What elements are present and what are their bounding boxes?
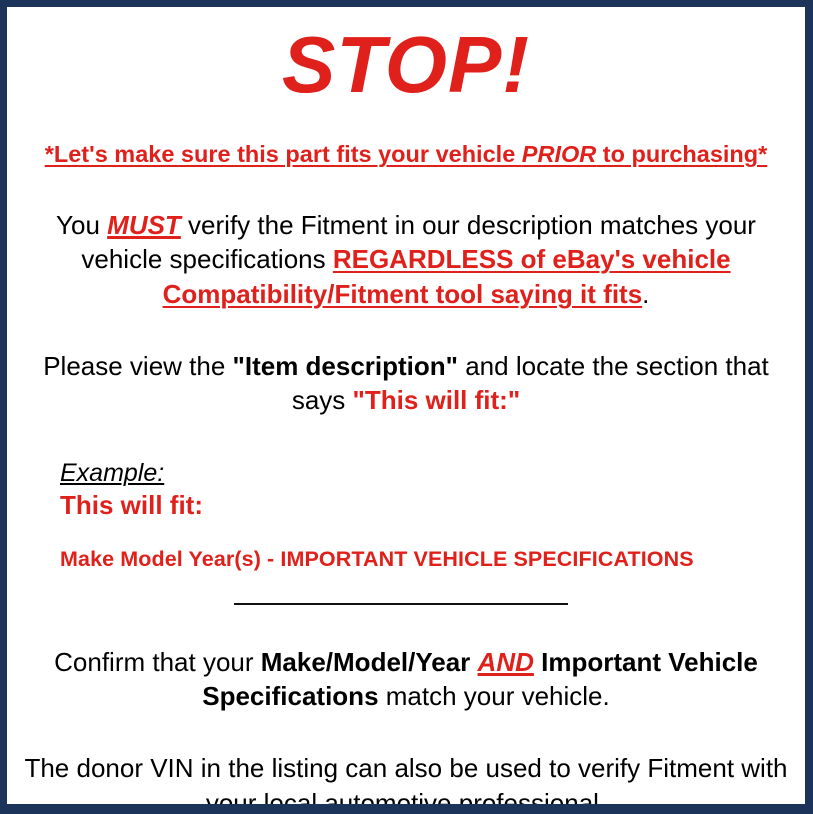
must-part3: . [642, 279, 649, 309]
must-part1: You [56, 210, 107, 240]
section-separator [19, 598, 793, 612]
example-fit-heading: This will fit: [60, 491, 793, 521]
paragraph-must-verify: You MUST verify the Fitment in our descr… [19, 208, 793, 311]
paragraph-confirm: Confirm that your Make/Model/Year AND Im… [19, 645, 793, 714]
fitment-notice-card: STOP! *Let's make sure this part fits yo… [0, 0, 813, 814]
page-title: STOP! [19, 25, 793, 105]
separator-line [234, 603, 568, 605]
paragraph-view-description: Please view the "Item description" and l… [19, 349, 793, 418]
example-label: Example: [60, 460, 793, 488]
example-block: Example: This will fit: Make Model Year(… [19, 460, 793, 572]
paragraph-donor-vin: The donor VIN in the listing can also be… [19, 751, 793, 814]
notice-content: STOP! *Let's make sure this part fits yo… [7, 25, 805, 814]
emphasis-and: AND [478, 647, 534, 677]
confirm-part1: Confirm that your [54, 647, 261, 677]
view-part1: Please view the [43, 351, 232, 381]
emphasis-must: MUST [107, 210, 181, 240]
subtitle-emphasis-prior: PRIOR [522, 141, 596, 167]
example-spec-line: Make Model Year(s) - IMPORTANT VEHICLE S… [60, 548, 793, 572]
emphasis-item-description: "Item description" [233, 351, 458, 381]
emphasis-make-model-year: Make/Model/Year [261, 647, 471, 677]
subtitle-suffix: to purchasing* [596, 141, 767, 167]
subtitle-banner: *Let's make sure this part fits your veh… [19, 141, 793, 168]
confirm-part2: match your vehicle. [379, 681, 610, 711]
subtitle-prefix: *Let's make sure this part fits your veh… [45, 141, 522, 167]
confirm-space1 [470, 647, 477, 677]
emphasis-this-will-fit: "This will fit:" [353, 385, 521, 415]
